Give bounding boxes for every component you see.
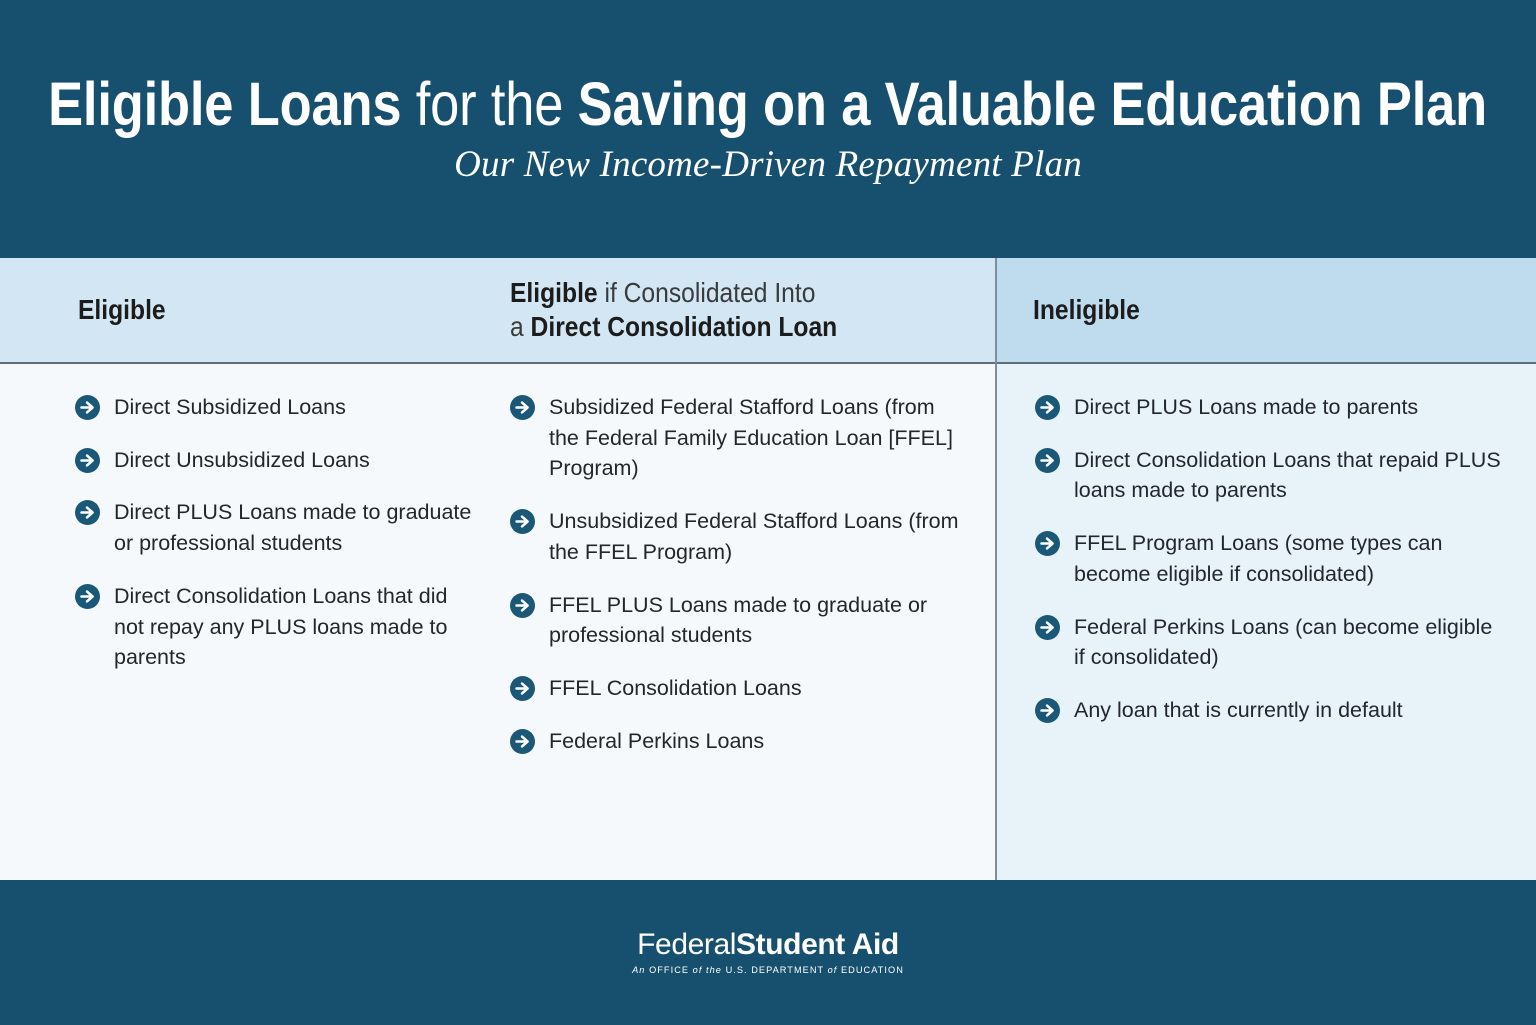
arrow-circle-right-icon bbox=[1035, 615, 1060, 640]
list-item-label: Direct Consolidation Loans that did not … bbox=[114, 581, 479, 673]
list-item-label: Direct Consolidation Loans that repaid P… bbox=[1074, 445, 1508, 506]
column-eligible: Eligible Direct Subsidized Loans bbox=[0, 258, 497, 880]
column-title-eligible: Eligible bbox=[78, 293, 166, 327]
list-item-label: Direct PLUS Loans made to parents bbox=[1074, 392, 1418, 423]
list-item-label: FFEL Consolidation Loans bbox=[549, 673, 802, 704]
list-item: Direct Consolidation Loans that did not … bbox=[75, 581, 479, 673]
arrow-circle-right-icon bbox=[1035, 395, 1060, 420]
list-item-label: Direct Subsidized Loans bbox=[114, 392, 346, 423]
list-item: Any loan that is currently in default bbox=[1035, 695, 1508, 726]
page-title: Eligible Loans for the Saving on a Valua… bbox=[49, 72, 1488, 136]
column-ineligible: Ineligible Direct PLUS Loans made to par… bbox=[995, 258, 1536, 880]
arrow-circle-right-icon bbox=[510, 395, 535, 420]
column-title-bold-1: Eligible bbox=[510, 277, 598, 308]
poster-header: Eligible Loans for the Saving on a Valua… bbox=[0, 0, 1536, 258]
consolidation-eligible-loan-list: Subsidized Federal Stafford Loans (from … bbox=[497, 392, 995, 757]
tagline-segment-5: of bbox=[828, 965, 841, 975]
tagline-segment-6: EDUCATION bbox=[841, 965, 904, 975]
arrow-circle-right-icon bbox=[1035, 698, 1060, 723]
ineligible-loan-list: Direct PLUS Loans made to parents Direct… bbox=[997, 392, 1536, 726]
column-title-bold-1: Ineligible bbox=[1033, 294, 1140, 325]
federal-student-aid-logo: FederalStudent Aid bbox=[637, 930, 899, 960]
list-item-label: Direct PLUS Loans made to graduate or pr… bbox=[114, 497, 479, 558]
column-title-light-2: a bbox=[510, 311, 531, 342]
list-item: Direct PLUS Loans made to parents bbox=[1035, 392, 1508, 423]
title-segment-bold-1: Eligible Loans bbox=[49, 70, 402, 138]
title-segment-light: for the bbox=[402, 70, 578, 138]
poster-footer: FederalStudent Aid An OFFICE of the U.S.… bbox=[0, 880, 1536, 1025]
tagline-segment-3: of the bbox=[693, 965, 726, 975]
loan-eligibility-table: Eligible Direct Subsidized Loans bbox=[0, 258, 1536, 880]
arrow-circle-right-icon bbox=[75, 448, 100, 473]
list-item: FFEL PLUS Loans made to graduate or prof… bbox=[510, 590, 967, 651]
list-item: Direct Unsubsidized Loans bbox=[75, 445, 479, 476]
list-item: FFEL Consolidation Loans bbox=[510, 673, 967, 704]
arrow-circle-right-icon bbox=[510, 593, 535, 618]
arrow-circle-right-icon bbox=[510, 676, 535, 701]
list-item: Direct PLUS Loans made to graduate or pr… bbox=[75, 497, 479, 558]
logo-word-federal: Federal bbox=[637, 928, 736, 961]
list-item: Subsidized Federal Stafford Loans (from … bbox=[510, 392, 967, 484]
tagline-segment-2: OFFICE bbox=[649, 965, 693, 975]
list-item: Unsubsidized Federal Stafford Loans (fro… bbox=[510, 506, 967, 567]
list-item-label: Federal Perkins Loans bbox=[549, 726, 764, 757]
list-item-label: FFEL Program Loans (some types can becom… bbox=[1074, 528, 1508, 589]
column-title-ineligible: Ineligible bbox=[1033, 293, 1140, 327]
list-item-label: Federal Perkins Loans (can become eligib… bbox=[1074, 612, 1508, 673]
column-title-eligible-if-consolidated: Eligible if Consolidated Into a Direct C… bbox=[510, 276, 837, 344]
list-item: Direct Subsidized Loans bbox=[75, 392, 479, 423]
eligible-loan-list: Direct Subsidized Loans Direct Unsubsidi… bbox=[0, 392, 497, 673]
list-item-label: Direct Unsubsidized Loans bbox=[114, 445, 370, 476]
list-item: FFEL Program Loans (some types can becom… bbox=[1035, 528, 1508, 589]
tagline-segment-1: An bbox=[632, 965, 649, 975]
list-item: Direct Consolidation Loans that repaid P… bbox=[1035, 445, 1508, 506]
list-item-label: Subsidized Federal Stafford Loans (from … bbox=[549, 392, 967, 484]
column-header-eligible-if-consolidated: Eligible if Consolidated Into a Direct C… bbox=[497, 258, 995, 364]
column-header-ineligible: Ineligible bbox=[997, 258, 1536, 364]
column-body-ineligible: Direct PLUS Loans made to parents Direct… bbox=[997, 364, 1536, 880]
column-body-eligible-if-consolidated: Subsidized Federal Stafford Loans (from … bbox=[497, 364, 995, 880]
column-title-bold-2: Direct Consolidation Loan bbox=[531, 311, 838, 342]
logo-tagline: An OFFICE of the U.S. DEPARTMENT of EDUC… bbox=[632, 965, 904, 975]
arrow-circle-right-icon bbox=[75, 584, 100, 609]
logo-word-student-aid: Student Aid bbox=[736, 928, 899, 961]
list-item: Federal Perkins Loans (can become eligib… bbox=[1035, 612, 1508, 673]
column-title-bold-1: Eligible bbox=[78, 294, 166, 325]
arrow-circle-right-icon bbox=[510, 729, 535, 754]
arrow-circle-right-icon bbox=[75, 500, 100, 525]
arrow-circle-right-icon bbox=[1035, 531, 1060, 556]
arrow-circle-right-icon bbox=[510, 509, 535, 534]
list-item-label: FFEL PLUS Loans made to graduate or prof… bbox=[549, 590, 967, 651]
arrow-circle-right-icon bbox=[75, 395, 100, 420]
infographic-poster: Eligible Loans for the Saving on a Valua… bbox=[0, 0, 1536, 1025]
list-item-label: Unsubsidized Federal Stafford Loans (fro… bbox=[549, 506, 967, 567]
list-item: Federal Perkins Loans bbox=[510, 726, 967, 757]
page-subtitle: Our New Income-Driven Repayment Plan bbox=[454, 143, 1082, 186]
column-title-light-1: if Consolidated Into bbox=[598, 277, 816, 308]
column-body-eligible: Direct Subsidized Loans Direct Unsubsidi… bbox=[0, 364, 497, 880]
list-item-label: Any loan that is currently in default bbox=[1074, 695, 1403, 726]
column-header-eligible: Eligible bbox=[0, 258, 497, 364]
column-eligible-if-consolidated: Eligible if Consolidated Into a Direct C… bbox=[497, 258, 995, 880]
tagline-segment-4: U.S. DEPARTMENT bbox=[726, 965, 828, 975]
title-segment-bold-2: Saving on a Valuable Education Plan bbox=[578, 70, 1487, 138]
arrow-circle-right-icon bbox=[1035, 448, 1060, 473]
